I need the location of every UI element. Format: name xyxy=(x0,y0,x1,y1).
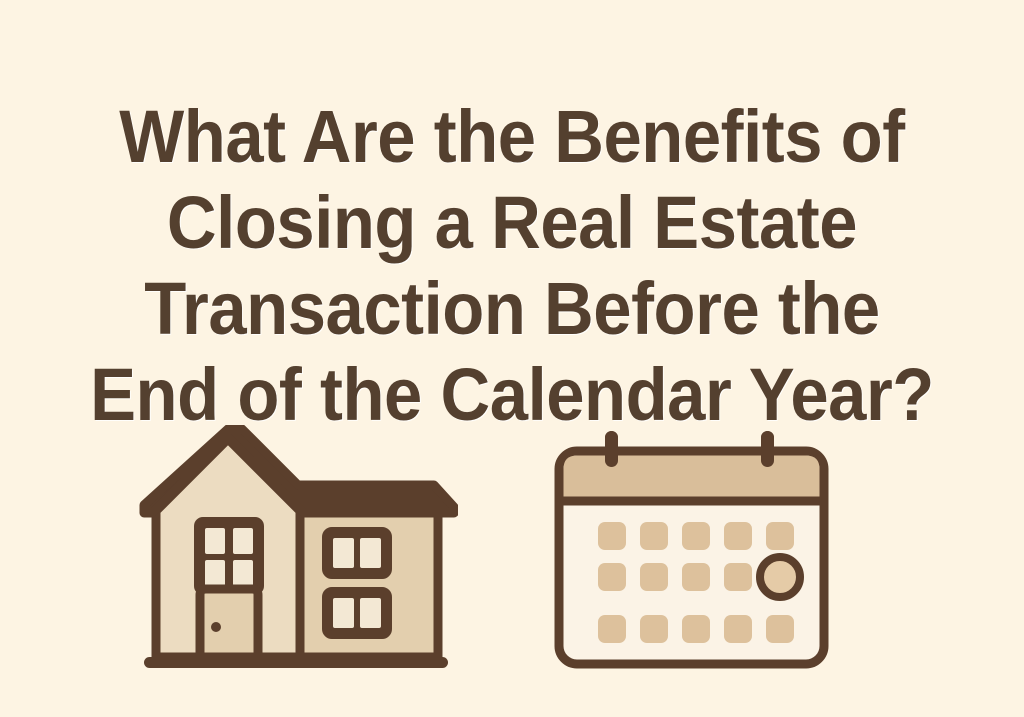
day-cell xyxy=(640,563,668,591)
day-cell xyxy=(682,563,710,591)
front-door-panel xyxy=(200,589,258,657)
page-title: What Are the Benefits of Closing a Real … xyxy=(36,94,988,438)
gable-pane-1 xyxy=(205,528,225,554)
headline-line-2: Closing a Real Estate xyxy=(36,180,988,266)
day-cell xyxy=(766,522,794,550)
day-cell xyxy=(640,615,668,643)
calendar-ring-left-overlay-icon xyxy=(605,431,618,467)
day-cell xyxy=(724,615,752,643)
day-cell xyxy=(598,563,626,591)
gable-pane-2 xyxy=(233,528,253,554)
house-icon-group xyxy=(144,429,454,668)
calendar-icon-group xyxy=(559,431,824,664)
headline-line-3: Transaction Before the xyxy=(36,266,988,352)
door-knob-icon xyxy=(211,622,221,632)
house-upper-right-window xyxy=(326,531,388,575)
day-cell xyxy=(598,615,626,643)
calendar-ring-right-overlay-icon xyxy=(761,431,774,467)
day-cell xyxy=(724,563,752,591)
day-cell xyxy=(682,522,710,550)
lower-right-pane-1 xyxy=(333,598,354,628)
day-cell xyxy=(640,522,668,550)
calendar-header-band xyxy=(564,456,820,502)
graphic-canvas: What Are the Benefits of Closing a Real … xyxy=(0,0,1024,717)
circled-date-icon xyxy=(760,557,800,597)
illustration-row xyxy=(0,425,1024,695)
headline-line-1: What Are the Benefits of xyxy=(36,94,988,180)
day-cell xyxy=(598,522,626,550)
house-gable-window xyxy=(198,521,260,591)
house-lower-right-window xyxy=(326,591,388,635)
house-front-door xyxy=(200,589,258,657)
house-icon xyxy=(138,425,458,685)
house-ground-line xyxy=(144,657,448,668)
gable-pane-4 xyxy=(233,560,253,586)
calendar-icon xyxy=(545,425,845,685)
upper-right-pane-2 xyxy=(360,538,381,568)
gable-pane-3 xyxy=(205,560,225,586)
upper-right-pane-1 xyxy=(333,538,354,568)
day-cell xyxy=(766,615,794,643)
day-cell xyxy=(682,615,710,643)
lower-right-pane-2 xyxy=(360,598,381,628)
day-cell xyxy=(724,522,752,550)
